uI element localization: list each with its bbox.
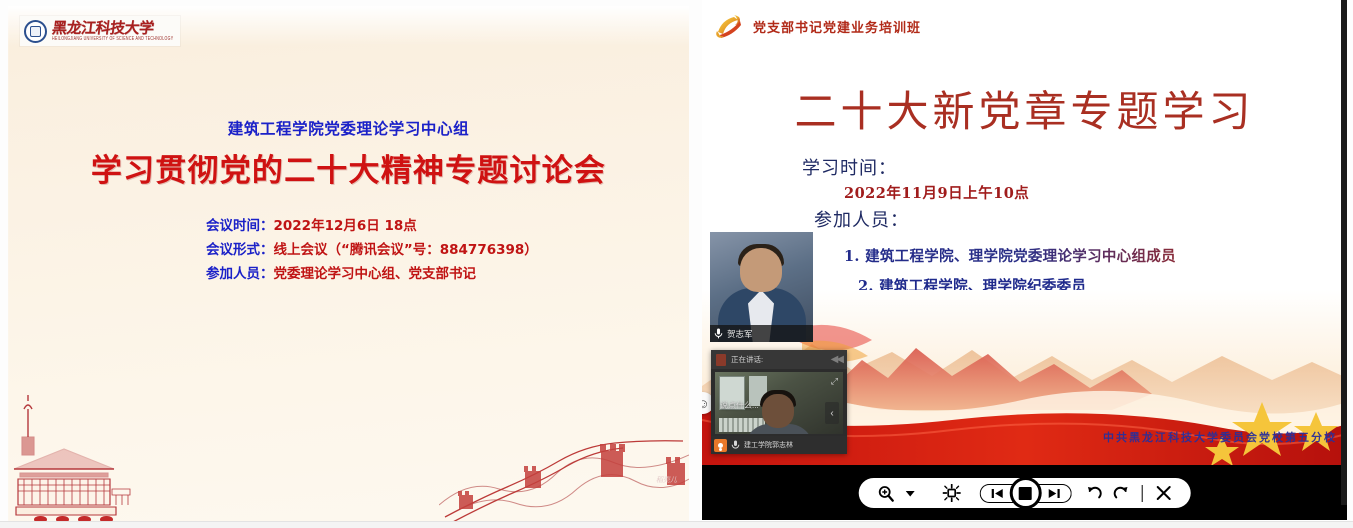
participants-label: 参加人员：	[802, 206, 1332, 236]
player-black-bar	[702, 465, 1347, 520]
slide-header: 党支部书记党建业务培训班	[714, 12, 921, 40]
university-name-en: HEILONGJIANG UNIVERSITY OF SCIENCE AND T…	[52, 37, 173, 42]
speaker-video-tile[interactable]: 贺志军	[710, 232, 813, 342]
shared-slide: 党支部书记党建业务培训班 二十大新党章专题学习 学习时间： 2022年11月9日…	[702, 0, 1347, 465]
floating-video-view[interactable]: 说点什么... ‹ ⤢	[715, 372, 843, 434]
meta-label: 会议时间：	[206, 218, 274, 234]
player-toolbar[interactable]	[858, 478, 1191, 508]
floating-video-window[interactable]: 正在讲话: ◀◀ 说点什么... ‹ ⤢	[711, 350, 847, 454]
participant-name: 建工学院郭志林	[744, 440, 793, 450]
speaker-avatar-icon	[716, 354, 726, 366]
stop-presentation-button[interactable]	[1009, 477, 1041, 509]
speaking-label: 正在讲话:	[731, 354, 763, 365]
floating-video-footer: 建工学院郭志林	[711, 436, 847, 454]
left-slide-title: 学习贯彻党的二十大精神专题讨论会	[8, 145, 689, 190]
emoji-glyph: ☺	[702, 396, 710, 411]
university-logo: 黑龙江科技大学 HEILONGJIANG UNIVERSITY OF SCIEN…	[20, 16, 180, 46]
speaker-name-bar: 贺志军	[710, 325, 813, 342]
meta-row: 会议时间：2022年12月6日 18点	[206, 214, 666, 238]
previous-icon	[990, 488, 1003, 499]
participant-head	[762, 394, 794, 428]
rotate-left-button[interactable]	[1081, 480, 1107, 506]
study-time-label: 学习时间：	[802, 156, 1332, 182]
left-slide-meta: 会议时间：2022年12月6日 18点 会议形式：线上会议（“腾讯会议”号：88…	[206, 214, 666, 286]
meta-value: 2022年12月6日 18点	[274, 218, 417, 234]
chevron-left-icon[interactable]: ‹	[825, 402, 839, 424]
user-icon	[714, 439, 727, 452]
shared-screen-panel: 党支部书记党建业务培训班 二十大新党章专题学习 学习时间： 2022年11月9日…	[702, 0, 1347, 528]
meta-row: 会议形式：线上会议（“腾讯会议”号：884776398）	[206, 238, 666, 262]
slide-watermark-right: 中共黑龙江科技大学委员会党校第五分校	[1103, 429, 1337, 445]
fit-to-screen-button[interactable]	[937, 480, 965, 506]
study-time-value: 2022年11月9日上午10点	[802, 182, 1332, 206]
meta-value: 线上会议（“腾讯会议”号：884776398）	[274, 242, 538, 258]
floating-video-titlebar: 正在讲话: ◀◀	[711, 350, 847, 369]
rotate-cw-icon	[1112, 485, 1128, 501]
microphone-icon	[714, 328, 723, 339]
next-slide-button[interactable]	[1037, 484, 1071, 503]
expand-icon[interactable]: ⤢	[831, 376, 838, 387]
previous-slide-button[interactable]	[979, 484, 1013, 503]
university-seal-icon	[24, 20, 47, 43]
screenshot-root: 黑龙江科技大学 HEILONGJIANG UNIVERSITY OF SCIEN…	[0, 0, 1353, 528]
party-emblem-icon	[714, 12, 744, 40]
meta-label: 会议形式：	[206, 242, 274, 258]
zoom-tool-button[interactable]	[872, 480, 899, 506]
window-right-edge	[1341, 0, 1347, 505]
stop-square-icon	[1019, 487, 1032, 500]
chevron-down-icon	[906, 490, 915, 497]
zoom-dropdown-button[interactable]	[899, 480, 925, 506]
chat-placeholder[interactable]: 说点什么...	[720, 400, 759, 411]
shared-slide-title: 二十大新党章专题学习	[702, 78, 1347, 139]
collapse-arrows-icon[interactable]: ◀◀	[831, 354, 842, 365]
meta-row: 参加人员：党委理论学习中心组、党支部书记	[206, 262, 666, 286]
toolbar-divider	[1141, 485, 1143, 502]
next-icon	[1047, 488, 1060, 499]
meta-value: 党委理论学习中心组、党支部书记	[274, 266, 477, 282]
university-name-cn: 黑龙江科技大学	[51, 21, 174, 36]
speaker-head	[740, 248, 782, 292]
meta-label: 参加人员：	[206, 266, 274, 282]
playback-controls	[979, 477, 1071, 509]
close-player-button[interactable]	[1151, 480, 1177, 506]
rotate-ccw-icon	[1086, 485, 1102, 501]
speaker-name: 贺志军	[727, 328, 753, 340]
fit-screen-icon	[942, 484, 960, 502]
tiananmen-line-art	[12, 393, 172, 523]
slide-header-text: 党支部书记党建业务培训班	[753, 17, 921, 36]
microphone-icon	[731, 440, 740, 450]
magnifier-plus-icon	[877, 485, 894, 502]
great-wall-line-art	[439, 433, 689, 523]
slide-watermark: 稻壳儿	[656, 475, 677, 485]
left-slide: 黑龙江科技大学 HEILONGJIANG UNIVERSITY OF SCIEN…	[8, 6, 689, 523]
left-slide-subtitle: 建筑工程学院党委理论学习中心组	[8, 117, 689, 139]
list-item: 1. 建筑工程学院、理学院党委理论学习中心组成员	[802, 242, 1332, 272]
close-x-icon	[1156, 485, 1172, 501]
rotate-right-button[interactable]	[1107, 480, 1133, 506]
bottom-strip	[0, 521, 1353, 528]
